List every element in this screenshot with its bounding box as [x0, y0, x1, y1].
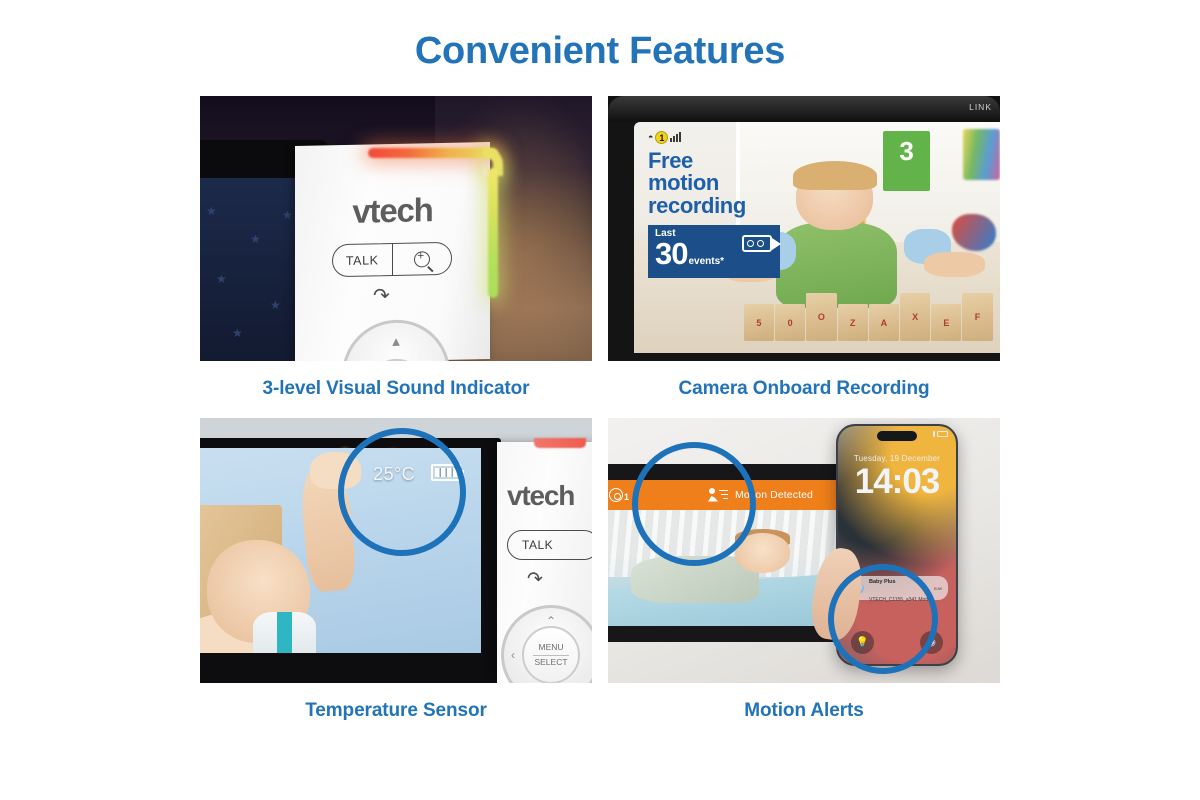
- lock-screen-time: 14:03: [838, 462, 956, 502]
- feature-caption: Motion Alerts: [608, 700, 1000, 722]
- block: Z: [838, 304, 868, 342]
- baby-bib: [253, 612, 316, 653]
- highlight-circle-notification: [828, 564, 938, 674]
- feature-card-motion-alerts: LINK 1 Motion Detected: [608, 418, 1000, 722]
- camera-number-badge: 1: [655, 131, 668, 144]
- headline-line-1: Free: [648, 150, 860, 172]
- feature-image-motion-alerts: LINK 1 Motion Detected: [608, 418, 1000, 683]
- highlight-circle-monitor: [632, 442, 756, 566]
- signal-bars-icon: [670, 132, 681, 142]
- page-title: Convenient Features: [0, 30, 1200, 73]
- screen-overlay: ◓ 1 Free motion recording Las: [648, 130, 860, 278]
- zoom-button[interactable]: [393, 243, 452, 275]
- sound-indicator-led: [534, 438, 586, 448]
- camcorder-icon: [742, 235, 772, 252]
- feature-caption: Camera Onboard Recording: [608, 378, 1000, 400]
- magnifier-plus-icon: [414, 251, 430, 267]
- phone-notch: [877, 431, 917, 441]
- feature-caption: Temperature Sensor: [200, 700, 592, 722]
- alphabet-blocks: 5 0 O Z A X E F: [744, 293, 993, 342]
- feature-card-camera-onboard-recording: LINK 3: [608, 96, 1000, 400]
- badge-suffix: events*: [688, 256, 724, 267]
- menu-select-button[interactable]: MENU SELECT: [522, 626, 580, 683]
- talk-button[interactable]: TALK: [333, 244, 393, 276]
- feature-image-temperature-sensor: LINK 25°C: [200, 418, 592, 683]
- signal-bars-icon: [933, 431, 935, 437]
- baby-arm-right: [924, 252, 985, 277]
- notification-time: now: [934, 586, 942, 591]
- block: 5: [744, 304, 774, 342]
- block: F: [962, 293, 992, 342]
- headline-line-3: recording: [648, 195, 860, 217]
- block: O: [806, 293, 836, 342]
- feature-grid: ★ ★ ★ ★ ★ ★ vtech TALK ↶: [200, 96, 1000, 700]
- headline-line-2: motion: [648, 172, 860, 194]
- back-arrow-icon[interactable]: ↶: [373, 283, 390, 308]
- battery-icon: [937, 431, 948, 437]
- overlay-headline: Free motion recording: [648, 150, 860, 217]
- block: 0: [775, 304, 805, 342]
- parent-unit-front: vtech TALK ↶ ⌃ ‹ ⌄ MENU SELECT: [497, 442, 592, 683]
- rainbow-toy: [963, 129, 1000, 180]
- menu-label: MENU: [538, 642, 563, 653]
- highlight-circle: [338, 428, 466, 556]
- parent-unit-front: vtech TALK ↶ ▲: [295, 142, 490, 361]
- phone-status-icons: [933, 431, 948, 437]
- link-status-label: LINK: [969, 102, 992, 112]
- sound-indicator-led-vertical: [488, 168, 498, 298]
- block: E: [931, 304, 961, 342]
- plastic-toy: [952, 214, 996, 251]
- directional-pad[interactable]: ▲: [342, 319, 450, 361]
- divider: [533, 655, 569, 656]
- select-label: SELECT: [534, 657, 567, 668]
- badge-number: 30: [655, 239, 687, 268]
- camera-icon: [609, 488, 623, 502]
- feature-image-visual-sound-indicator: ★ ★ ★ ★ ★ ★ vtech TALK ↶: [200, 96, 592, 361]
- chevron-up-icon: ▲: [390, 334, 403, 349]
- vtech-logo: vtech: [507, 480, 574, 512]
- reel-right: [757, 240, 764, 247]
- feature-card-visual-sound-indicator: ★ ★ ★ ★ ★ ★ vtech TALK ↶: [200, 96, 592, 400]
- block: X: [900, 293, 930, 342]
- directional-pad[interactable]: ⌃ ‹ ⌄ MENU SELECT: [501, 605, 592, 683]
- block: A: [869, 304, 899, 342]
- events-badge: Last 30 events*: [648, 225, 780, 278]
- talk-button[interactable]: TALK: [507, 530, 592, 560]
- camera-indicator: 1: [608, 488, 629, 502]
- feature-page: Convenient Features ★ ★ ★ ★ ★ ★: [0, 0, 1200, 800]
- feature-card-temperature-sensor: LINK 25°C: [200, 418, 592, 722]
- reel-left: [747, 240, 754, 247]
- wifi-icon: ◓: [648, 132, 653, 142]
- camera-indicator: ◓ 1: [648, 130, 860, 144]
- back-arrow-icon[interactable]: ↶: [527, 568, 543, 591]
- talk-zoom-button-group[interactable]: TALK: [332, 242, 452, 278]
- feature-caption: 3-level Visual Sound Indicator: [200, 378, 592, 400]
- monitor-screen: 3 5 0: [634, 122, 1000, 353]
- chevron-left-icon[interactable]: ‹: [511, 648, 515, 662]
- sound-indicator-led-horizontal: [368, 148, 498, 158]
- feature-image-camera-onboard-recording: LINK 3: [608, 96, 1000, 361]
- select-button[interactable]: [367, 358, 425, 361]
- vtech-logo: vtech: [295, 190, 490, 232]
